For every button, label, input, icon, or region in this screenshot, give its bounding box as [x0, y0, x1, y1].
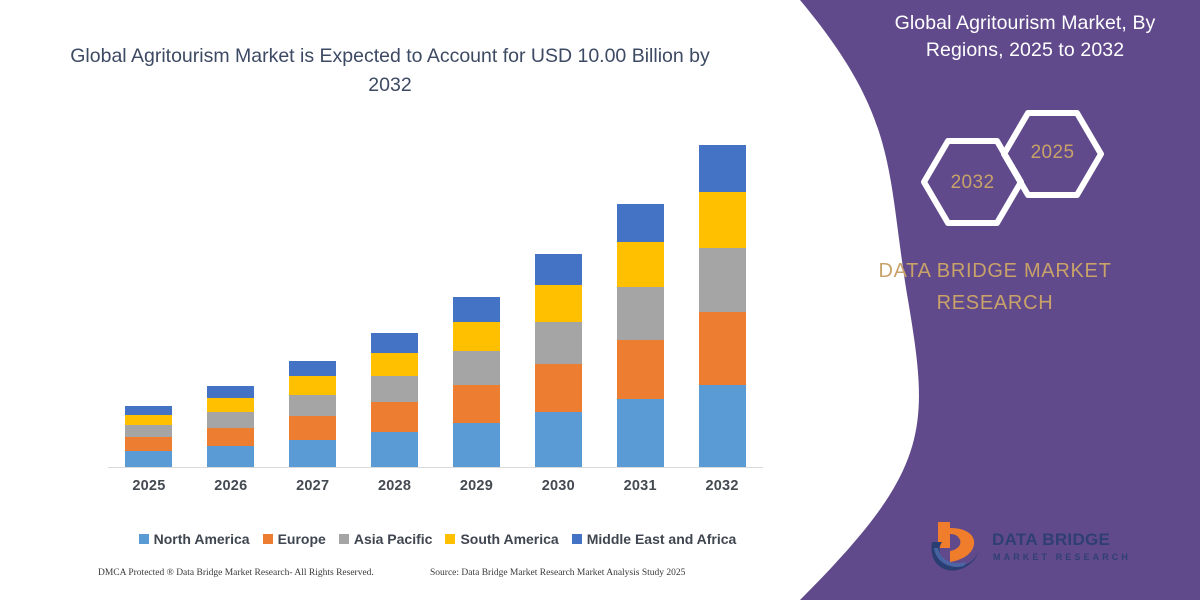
stacked-bar: [453, 297, 500, 467]
bar-segment: [453, 297, 500, 322]
stacked-bar-group: [108, 145, 763, 467]
bar-segment: [289, 376, 336, 394]
bar-segment: [371, 432, 418, 467]
legend-label: Asia Pacific: [354, 531, 433, 547]
bar-segment: [207, 386, 254, 398]
bar-segment: [207, 398, 254, 412]
x-axis-label: 2030: [520, 478, 596, 494]
bar-segment: [453, 351, 500, 385]
bar-column: [193, 145, 269, 467]
hexagon-label-2025: 2025: [1000, 142, 1105, 164]
bar-segment: [289, 361, 336, 377]
bar-segment: [371, 402, 418, 433]
stacked-bar: [125, 406, 172, 467]
infographic-canvas: Global Agritourism Market is Expected to…: [0, 0, 1200, 600]
bar-segment: [617, 399, 664, 467]
legend-item[interactable]: Middle East and Africa: [572, 531, 737, 547]
legend-swatch-icon: [263, 534, 273, 544]
bar-segment: [207, 412, 254, 428]
bar-segment: [125, 437, 172, 451]
bar-column: [438, 145, 514, 467]
legend-swatch-icon: [572, 534, 582, 544]
stacked-bar: [617, 204, 664, 467]
bar-column: [684, 145, 760, 467]
bar-segment: [535, 285, 582, 322]
company-logo: DATA BRIDGE MARKET RESEARCH: [920, 518, 1180, 584]
chart-x-axis-line: [108, 467, 763, 468]
chart-panel: Global Agritourism Market is Expected to…: [0, 0, 800, 600]
bar-segment: [535, 254, 582, 285]
footer: DMCA Protected ® Data Bridge Market Rese…: [0, 568, 800, 588]
stacked-bar: [289, 361, 336, 467]
x-axis-label: 2025: [111, 478, 187, 494]
stacked-bar: [207, 386, 254, 467]
legend-swatch-icon: [139, 534, 149, 544]
bar-column: [602, 145, 678, 467]
bar-segment: [371, 353, 418, 376]
x-axis-label: 2029: [438, 478, 514, 494]
bar-column: [520, 145, 596, 467]
x-axis-label: 2032: [684, 478, 760, 494]
x-axis-label: 2026: [193, 478, 269, 494]
logo-sub-text: MARKET RESEARCH: [993, 552, 1131, 562]
bar-segment: [617, 287, 664, 339]
bar-segment: [371, 376, 418, 402]
legend-item[interactable]: Asia Pacific: [339, 531, 433, 547]
x-axis-labels: 20252026202720282029203020312032: [108, 478, 763, 494]
hexagon-badge-2025: 2025: [1000, 108, 1105, 200]
stacked-bar: [699, 145, 746, 467]
bar-segment: [371, 333, 418, 353]
bar-segment: [125, 415, 172, 425]
brand-panel: Global Agritourism Market, By Regions, 2…: [790, 0, 1200, 600]
bar-segment: [207, 446, 254, 467]
bar-segment: [699, 248, 746, 312]
stacked-bar: [371, 333, 418, 467]
hexagon-badges: 2032 2025: [900, 108, 1190, 228]
brand-panel-content: Global Agritourism Market, By Regions, 2…: [790, 0, 1200, 600]
bar-segment: [453, 423, 500, 467]
bar-segment: [535, 322, 582, 364]
bar-column: [275, 145, 351, 467]
brand-name: DATA BRIDGE MARKET RESEARCH: [820, 255, 1170, 319]
bar-segment: [699, 385, 746, 467]
bar-segment: [453, 322, 500, 351]
chart-title: Global Agritourism Market is Expected to…: [70, 42, 710, 100]
bar-segment: [699, 312, 746, 385]
legend-label: Middle East and Africa: [587, 531, 737, 547]
bar-segment: [125, 406, 172, 415]
x-axis-label: 2031: [602, 478, 678, 494]
bar-segment: [289, 395, 336, 416]
footer-dmca-text: DMCA Protected ® Data Bridge Market Rese…: [98, 568, 374, 578]
chart-legend: North AmericaEuropeAsia PacificSouth Ame…: [105, 531, 770, 547]
legend-swatch-icon: [445, 534, 455, 544]
bar-segment: [699, 192, 746, 248]
legend-item[interactable]: South America: [445, 531, 558, 547]
x-axis-label: 2027: [275, 478, 351, 494]
legend-item[interactable]: North America: [139, 531, 250, 547]
legend-label: Europe: [278, 531, 326, 547]
bar-segment: [535, 364, 582, 412]
bar-segment: [289, 416, 336, 440]
bar-segment: [125, 425, 172, 437]
bar-segment: [289, 440, 336, 467]
legend-item[interactable]: Europe: [263, 531, 326, 547]
logo-main-text: DATA BRIDGE: [992, 530, 1110, 550]
footer-source-text: Source: Data Bridge Market Research Mark…: [430, 568, 685, 578]
bar-segment: [207, 428, 254, 446]
bar-segment: [617, 204, 664, 243]
x-axis-label: 2028: [357, 478, 433, 494]
panel-title: Global Agritourism Market, By Regions, 2…: [875, 10, 1175, 64]
legend-label: South America: [460, 531, 558, 547]
data-bridge-b-mark-icon: [920, 518, 990, 578]
bar-column: [111, 145, 187, 467]
bar-segment: [699, 145, 746, 192]
legend-label: North America: [154, 531, 250, 547]
bar-column: [357, 145, 433, 467]
bar-segment: [125, 451, 172, 467]
bar-segment: [453, 385, 500, 424]
bar-segment: [617, 340, 664, 400]
legend-swatch-icon: [339, 534, 349, 544]
bar-segment: [617, 242, 664, 287]
bar-segment: [535, 412, 582, 467]
stacked-bar: [535, 254, 582, 467]
